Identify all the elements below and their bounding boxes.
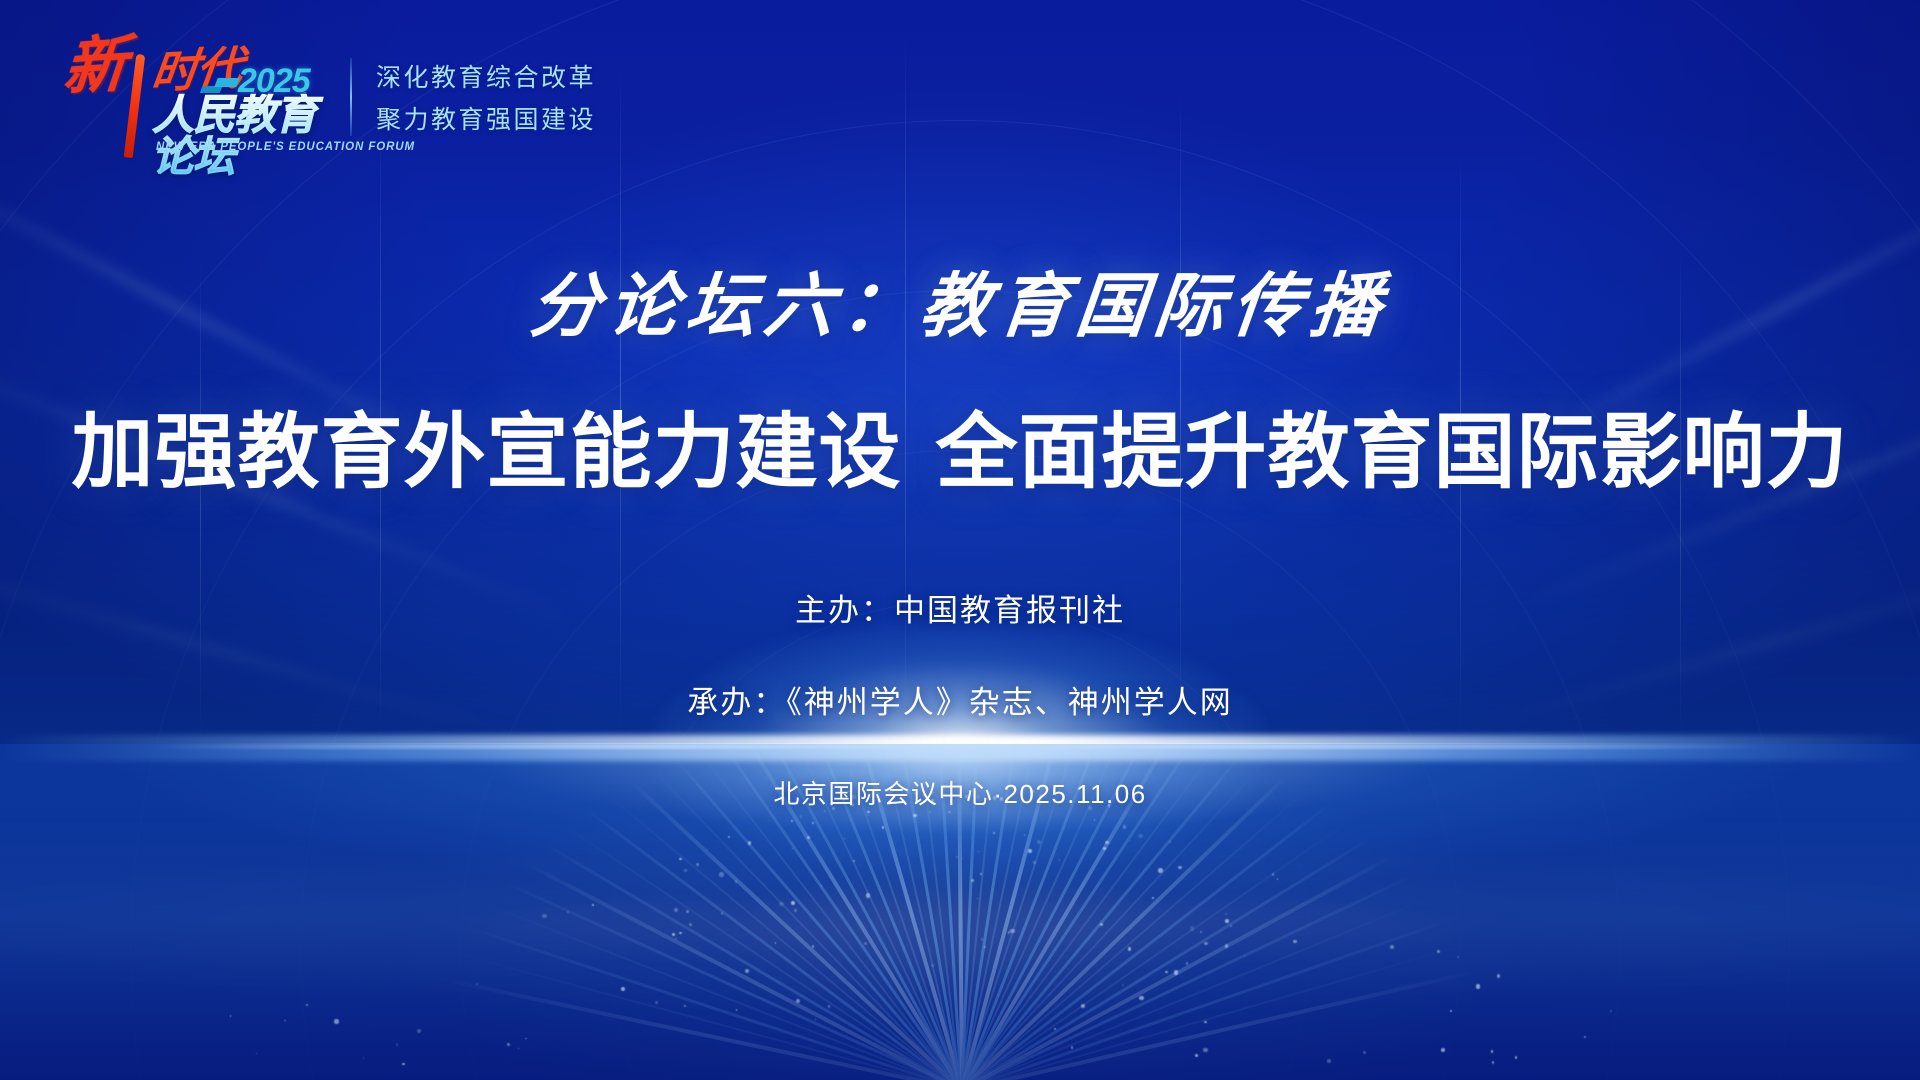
poster-stage: 新 时代 2025 人民教育论坛 NEW ERA PEOPLE'S EDUCAT…: [0, 0, 1920, 1080]
forum-logo-mark: 新 时代 2025 人民教育论坛 NEW ERA PEOPLE'S EDUCAT…: [56, 38, 326, 156]
logo-divider: [350, 58, 352, 136]
organizer-label: 承办：《神州学人》杂志、神州学人网: [0, 677, 1920, 722]
main-headline: 加强教育外宣能力建设全面提升教育国际影响力: [0, 385, 1920, 504]
logo-red-brush-stroke: [124, 54, 146, 158]
headline-part-2: 全面提升教育国际影响力: [936, 407, 1849, 498]
sub-forum-title: 分论坛六：教育国际传播: [0, 250, 1920, 351]
logo-calligraphy-xin: 新: [61, 34, 125, 100]
logo-forum-name-cn: 人民教育论坛: [152, 94, 326, 178]
logo-forum-name-en: NEW ERA PEOPLE'S EDUCATION FORUM: [156, 141, 415, 153]
forum-logo-block: 新 时代 2025 人民教育论坛 NEW ERA PEOPLE'S EDUCAT…: [56, 38, 596, 156]
logo-calligraphy-shidai: 时代: [149, 46, 243, 97]
tagline-line-1: 深化教育综合改革: [376, 58, 596, 94]
credits-block: 主办：中国教育报刊社 承办：《神州学人》杂志、神州学人网 北京国际会议中心·20…: [0, 585, 1920, 811]
logo-year-dash-icon: [214, 78, 240, 87]
forum-tagline: 深化教育综合改革 聚力教育强国建设: [376, 58, 596, 136]
headline-part-1: 加强教育外宣能力建设: [71, 407, 901, 498]
host-label: 主办：中国教育报刊社: [0, 585, 1920, 630]
venue-and-date: 北京国际会议中心·2025.11.06: [0, 774, 1920, 811]
tagline-line-2: 聚力教育强国建设: [376, 100, 596, 136]
